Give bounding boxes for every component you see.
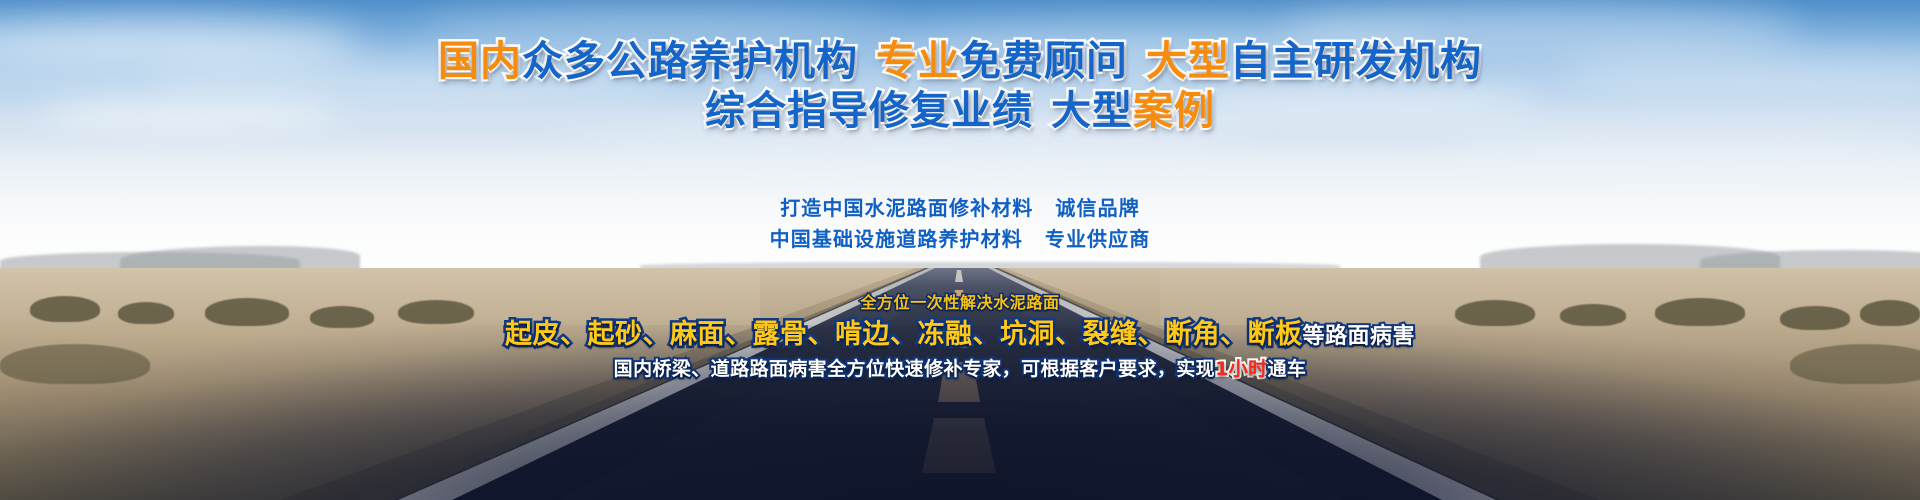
headline-seg-blue: 免费顾问 (960, 37, 1128, 85)
bottomcopy-tagline-b: 通车 (1268, 358, 1307, 380)
bottomcopy-tagline-highlight: 1小时 (1215, 358, 1267, 380)
bottomcopy-tagline-a: 国内桥梁、道路路面病害全方位快速修补专家，可根据客户要求，实现 (614, 358, 1215, 380)
bottomcopy-tagline: 国内桥梁、道路路面病害全方位快速修补专家，可根据客户要求，实现1小时通车 (0, 357, 1920, 382)
headline-seg-orange: 大型 (1146, 37, 1230, 85)
headline-line-1: 国内众多公路养护机构专业免费顾问大型自主研发机构 (0, 40, 1920, 83)
headline-seg-orange: 专业 (876, 37, 960, 85)
midcopy-line-2-b: 专业供应商 (1045, 227, 1151, 251)
headline-block: 国内众多公路养护机构专业免费顾问大型自主研发机构 综合指导修复业绩大型案例 (0, 40, 1920, 133)
headline-seg-blue: 众多公路养护机构 (522, 37, 858, 85)
headline-seg-blue: 大型 (1051, 88, 1133, 134)
headline-line-2: 综合指导修复业绩大型案例 (0, 90, 1920, 132)
promo-banner: 国内众多公路养护机构专业免费顾问大型自主研发机构 综合指导修复业绩大型案例 打造… (0, 0, 1920, 500)
midcopy-line-1-a: 打造中国水泥路面修补材料 (780, 196, 1033, 220)
bottomcopy-block: 全方位一次性解决水泥路面 起皮、起砂、麻面、露骨、啃边、冻融、坑洞、裂缝、断角、… (0, 293, 1920, 381)
midcopy-line-1: 打造中国水泥路面修补材料诚信品牌 (0, 193, 1920, 224)
headline-seg-blue: 自主研发机构 (1230, 37, 1482, 85)
midcopy-line-2: 中国基础设施道路养护材料专业供应商 (0, 224, 1920, 255)
bottomcopy-defects-line: 起皮、起砂、麻面、露骨、啃边、冻融、坑洞、裂缝、断角、断板等路面病害 (0, 318, 1920, 352)
midcopy-block: 打造中国水泥路面修补材料诚信品牌 中国基础设施道路养护材料专业供应商 (0, 193, 1920, 255)
bottomcopy-lead: 全方位一次性解决水泥路面 (0, 293, 1920, 314)
midcopy-line-2-a: 中国基础设施道路养护材料 (770, 227, 1023, 251)
bottomcopy-defects: 起皮、起砂、麻面、露骨、啃边、冻融、坑洞、裂缝、断角、断板 (505, 319, 1303, 350)
headline-seg-blue: 综合指导修复业绩 (705, 88, 1033, 134)
headline-seg-orange: 案例 (1133, 88, 1215, 134)
midcopy-line-1-b: 诚信品牌 (1055, 196, 1139, 220)
headline-seg-orange: 国内 (438, 37, 522, 85)
bottomcopy-defects-suffix: 等路面病害 (1302, 324, 1415, 349)
